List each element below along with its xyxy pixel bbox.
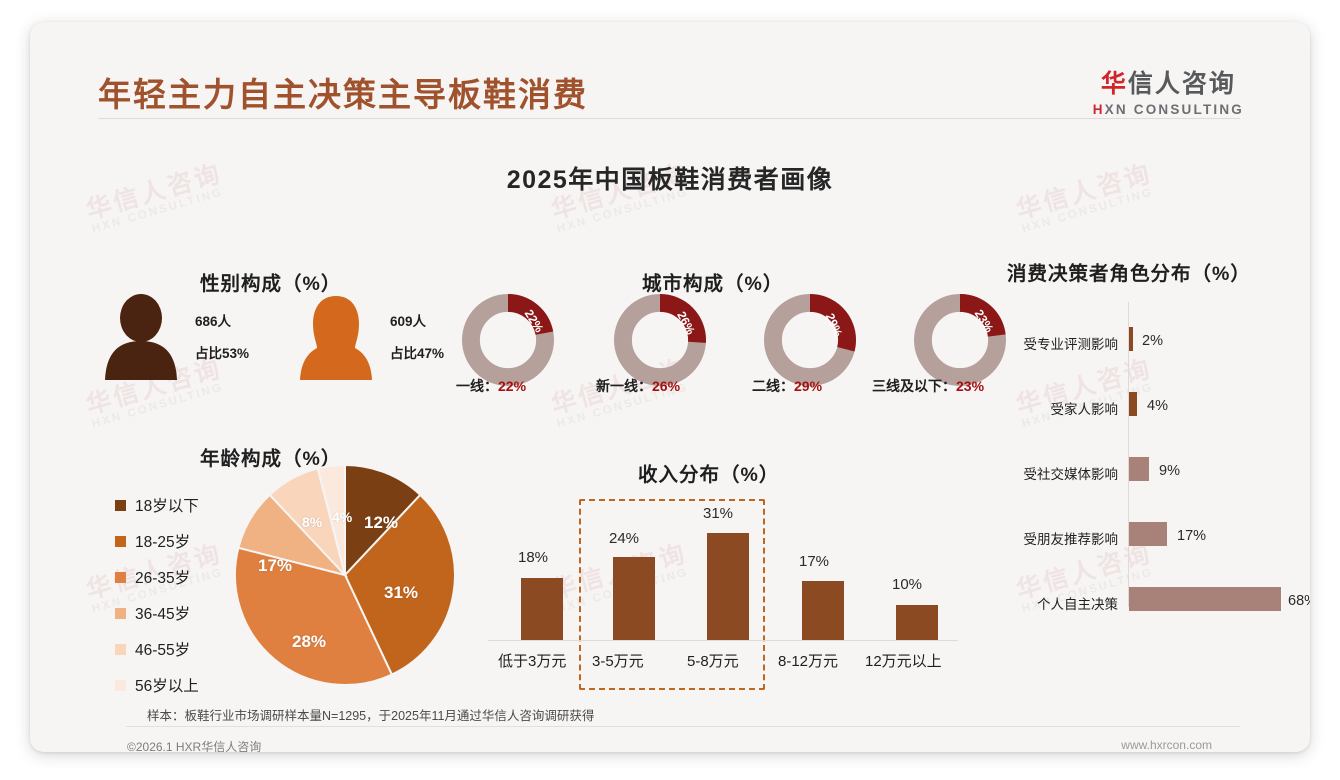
- city-label-tier2: 二线：29%: [752, 376, 822, 396]
- legend-label: 18-25岁: [135, 530, 190, 552]
- header-divider: [98, 118, 1240, 119]
- logo-cn-rest: 信人咨询: [1128, 70, 1236, 98]
- legend-label: 46-55岁: [135, 638, 190, 660]
- legend-swatch: [115, 608, 126, 619]
- legend-item: 18岁以下: [115, 494, 199, 516]
- income-bar: [707, 533, 749, 640]
- brand-logo: 华信人咨询 HXN CONSULTING: [1093, 64, 1244, 117]
- city-section-title: 城市构成（%）: [642, 267, 783, 296]
- logo-cn-accent: 华: [1101, 70, 1128, 98]
- male-silhouette-icon: [100, 294, 182, 380]
- income-bar-category: 8-12万元: [778, 650, 838, 671]
- city-donut-tier2: [764, 294, 856, 386]
- legend-item: 36-45岁: [115, 602, 199, 624]
- income-bar-category: 5-8万元: [687, 650, 739, 671]
- role-label: 受专业评测影响: [978, 333, 1118, 353]
- income-bar-value: 10%: [892, 576, 922, 593]
- income-bar-category: 低于3万元: [498, 650, 566, 671]
- city-label-newtier1: 新一线：26%: [596, 376, 680, 396]
- income-bar-category: 12万元以上: [865, 650, 942, 671]
- income-bar: [802, 581, 844, 640]
- logo-chinese: 华信人咨询: [1093, 64, 1244, 100]
- income-section-title: 收入分布（%）: [638, 458, 779, 487]
- page-title: 年轻主力自主决策主导板鞋消费: [98, 68, 588, 116]
- logo-en-rest: XN CONSULTING: [1105, 102, 1244, 117]
- male-count: 686人: [195, 310, 231, 330]
- roles-section-title: 消费决策者角色分布（%）: [1007, 257, 1251, 286]
- legend-swatch: [115, 572, 126, 583]
- legend-item: 26-35岁: [115, 566, 199, 588]
- legend-item: 46-55岁: [115, 638, 199, 660]
- role-value: 68%: [1288, 593, 1310, 609]
- income-baseline: [488, 640, 958, 641]
- legend-swatch: [115, 680, 126, 691]
- female-silhouette-icon: [295, 294, 377, 380]
- income-bar-value: 24%: [609, 530, 639, 547]
- male-share: 占比53%: [195, 342, 249, 362]
- role-bar: [1129, 522, 1167, 546]
- age-legend: 18岁以下 18-25岁 26-35岁 36-45岁 46-55岁 56岁以上: [115, 494, 199, 710]
- legend-label: 36-45岁: [135, 602, 190, 624]
- age-pie-value-under18: 12%: [364, 513, 398, 533]
- income-bar-category: 3-5万元: [592, 650, 644, 671]
- legend-item: 18-25岁: [115, 530, 199, 552]
- city-label-tier3: 三线及以下：23%: [872, 376, 984, 396]
- legend-swatch: [115, 536, 126, 547]
- footer-divider: [126, 726, 1240, 727]
- logo-en-accent: H: [1093, 102, 1105, 117]
- main-chart-title: 2025年中国板鞋消费者画像: [30, 160, 1310, 196]
- income-bar: [521, 578, 563, 640]
- age-pie-value-46-55: 8%: [302, 514, 322, 530]
- role-value: 9%: [1159, 463, 1180, 479]
- role-bar: [1129, 392, 1137, 416]
- legend-label: 18岁以下: [135, 494, 199, 516]
- role-label: 个人自主决策: [978, 593, 1118, 613]
- watermark-en: HXN CONSULTING: [91, 380, 229, 430]
- role-label: 受社交媒体影响: [978, 463, 1118, 483]
- infographic-root: 华信人咨询 HXN CONSULTING 华信人咨询 HXN CONSULTIN…: [0, 0, 1340, 780]
- website-link[interactable]: www.hxrcon.com: [1121, 738, 1212, 752]
- legend-label: 56岁以上: [135, 674, 199, 696]
- legend-label: 26-35岁: [135, 566, 190, 588]
- legend-item: 56岁以上: [115, 674, 199, 696]
- role-label: 受朋友推荐影响: [978, 528, 1118, 548]
- legend-swatch: [115, 500, 126, 511]
- role-bar: [1129, 587, 1281, 611]
- income-bar-value: 17%: [799, 553, 829, 570]
- age-pie-value-26-35: 28%: [292, 632, 326, 652]
- logo-english: HXN CONSULTING: [1093, 102, 1244, 117]
- city-label-tier1: 一线：22%: [456, 376, 526, 396]
- copyright: ©2026.1 HXR华信人咨询: [127, 738, 261, 752]
- age-pie-value-56plus: 4%: [332, 509, 352, 525]
- age-pie-value-36-45: 17%: [258, 556, 292, 576]
- age-pie-value-18-25: 31%: [384, 583, 418, 603]
- city-donut-tier1: [462, 294, 554, 386]
- legend-swatch: [115, 644, 126, 655]
- role-bar: [1129, 457, 1149, 481]
- footnote: 样本：板鞋行业市场调研样本量N=1295，于2025年11月通过华信人咨询调研获…: [147, 705, 594, 724]
- income-bar: [613, 557, 655, 640]
- slide-card: 华信人咨询 HXN CONSULTING 华信人咨询 HXN CONSULTIN…: [30, 22, 1310, 752]
- age-pie-chart: [206, 459, 484, 691]
- gender-section-title: 性别构成（%）: [200, 267, 341, 296]
- income-bar: [896, 605, 938, 640]
- female-share: 占比47%: [390, 342, 444, 362]
- role-value: 4%: [1147, 398, 1168, 414]
- role-value: 17%: [1177, 528, 1206, 544]
- income-bar-value: 18%: [518, 549, 548, 566]
- role-label: 受家人影响: [978, 398, 1118, 418]
- income-bar-value: 31%: [703, 505, 733, 522]
- role-value: 2%: [1142, 333, 1163, 349]
- role-bar: [1129, 327, 1133, 351]
- female-count: 609人: [390, 310, 426, 330]
- watermark: 华信人咨询 HXN CONSULTING: [1012, 349, 1159, 431]
- city-donut-newtier1: [614, 294, 706, 386]
